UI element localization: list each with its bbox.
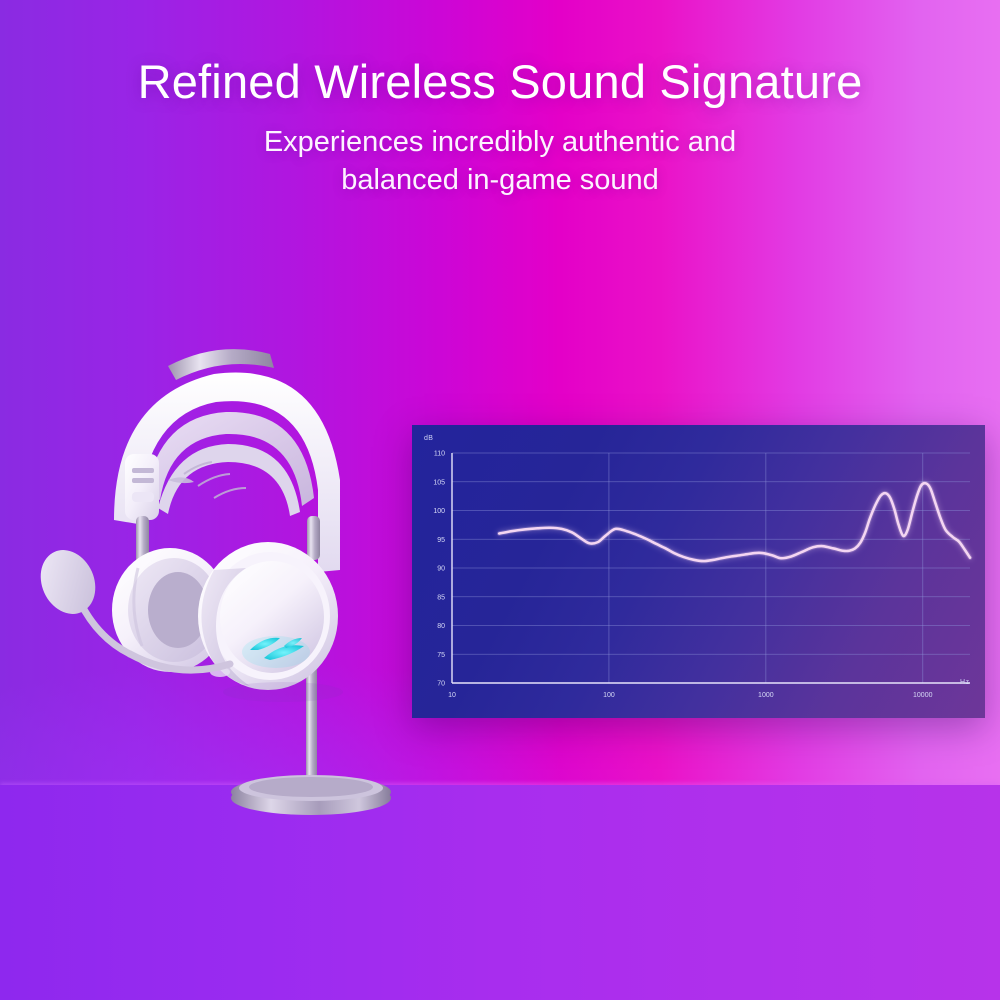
y-tick-75: 75 (437, 652, 445, 659)
x-tick-10: 10 (448, 692, 456, 699)
product-image-headset (18, 320, 408, 820)
heading-block: Refined Wireless Sound Signature Experie… (0, 56, 1000, 199)
frequency-response-chart: dB Hz 110105100959085807570 101001000100… (412, 425, 985, 718)
subtitle-line-1: Experiences incredibly authentic and (0, 123, 1000, 161)
page-subtitle: Experiences incredibly authentic and bal… (0, 123, 1000, 200)
chart-y-tick-labels: 110105100959085807570 (433, 451, 445, 688)
y-tick-110: 110 (434, 451, 445, 458)
chart-canvas: 110105100959085807570 10100100010000 (412, 425, 985, 718)
x-tick-10000: 10000 (913, 692, 933, 699)
page-title: Refined Wireless Sound Signature (0, 56, 1000, 109)
y-tick-95: 95 (437, 537, 445, 544)
y-tick-85: 85 (437, 594, 445, 601)
x-axis-unit-label: Hz (960, 679, 969, 686)
y-tick-70: 70 (437, 681, 445, 688)
chart-series-line (499, 483, 970, 561)
chart-gridlines (452, 453, 970, 683)
headband-slider-left (125, 454, 159, 564)
marketing-hero: Refined Wireless Sound Signature Experie… (0, 0, 1000, 1000)
headband-slider-right (307, 516, 320, 560)
subtitle-line-2: balanced in-game sound (0, 161, 1000, 199)
rog-logo (242, 636, 310, 668)
chart-x-tick-labels: 10100100010000 (448, 692, 932, 699)
y-tick-80: 80 (437, 623, 445, 630)
y-tick-100: 100 (433, 508, 445, 515)
y-axis-unit-label: dB (424, 435, 433, 442)
y-tick-90: 90 (437, 566, 445, 573)
y-tick-105: 105 (433, 479, 445, 486)
x-tick-100: 100 (603, 692, 615, 699)
x-tick-1000: 1000 (758, 692, 774, 699)
